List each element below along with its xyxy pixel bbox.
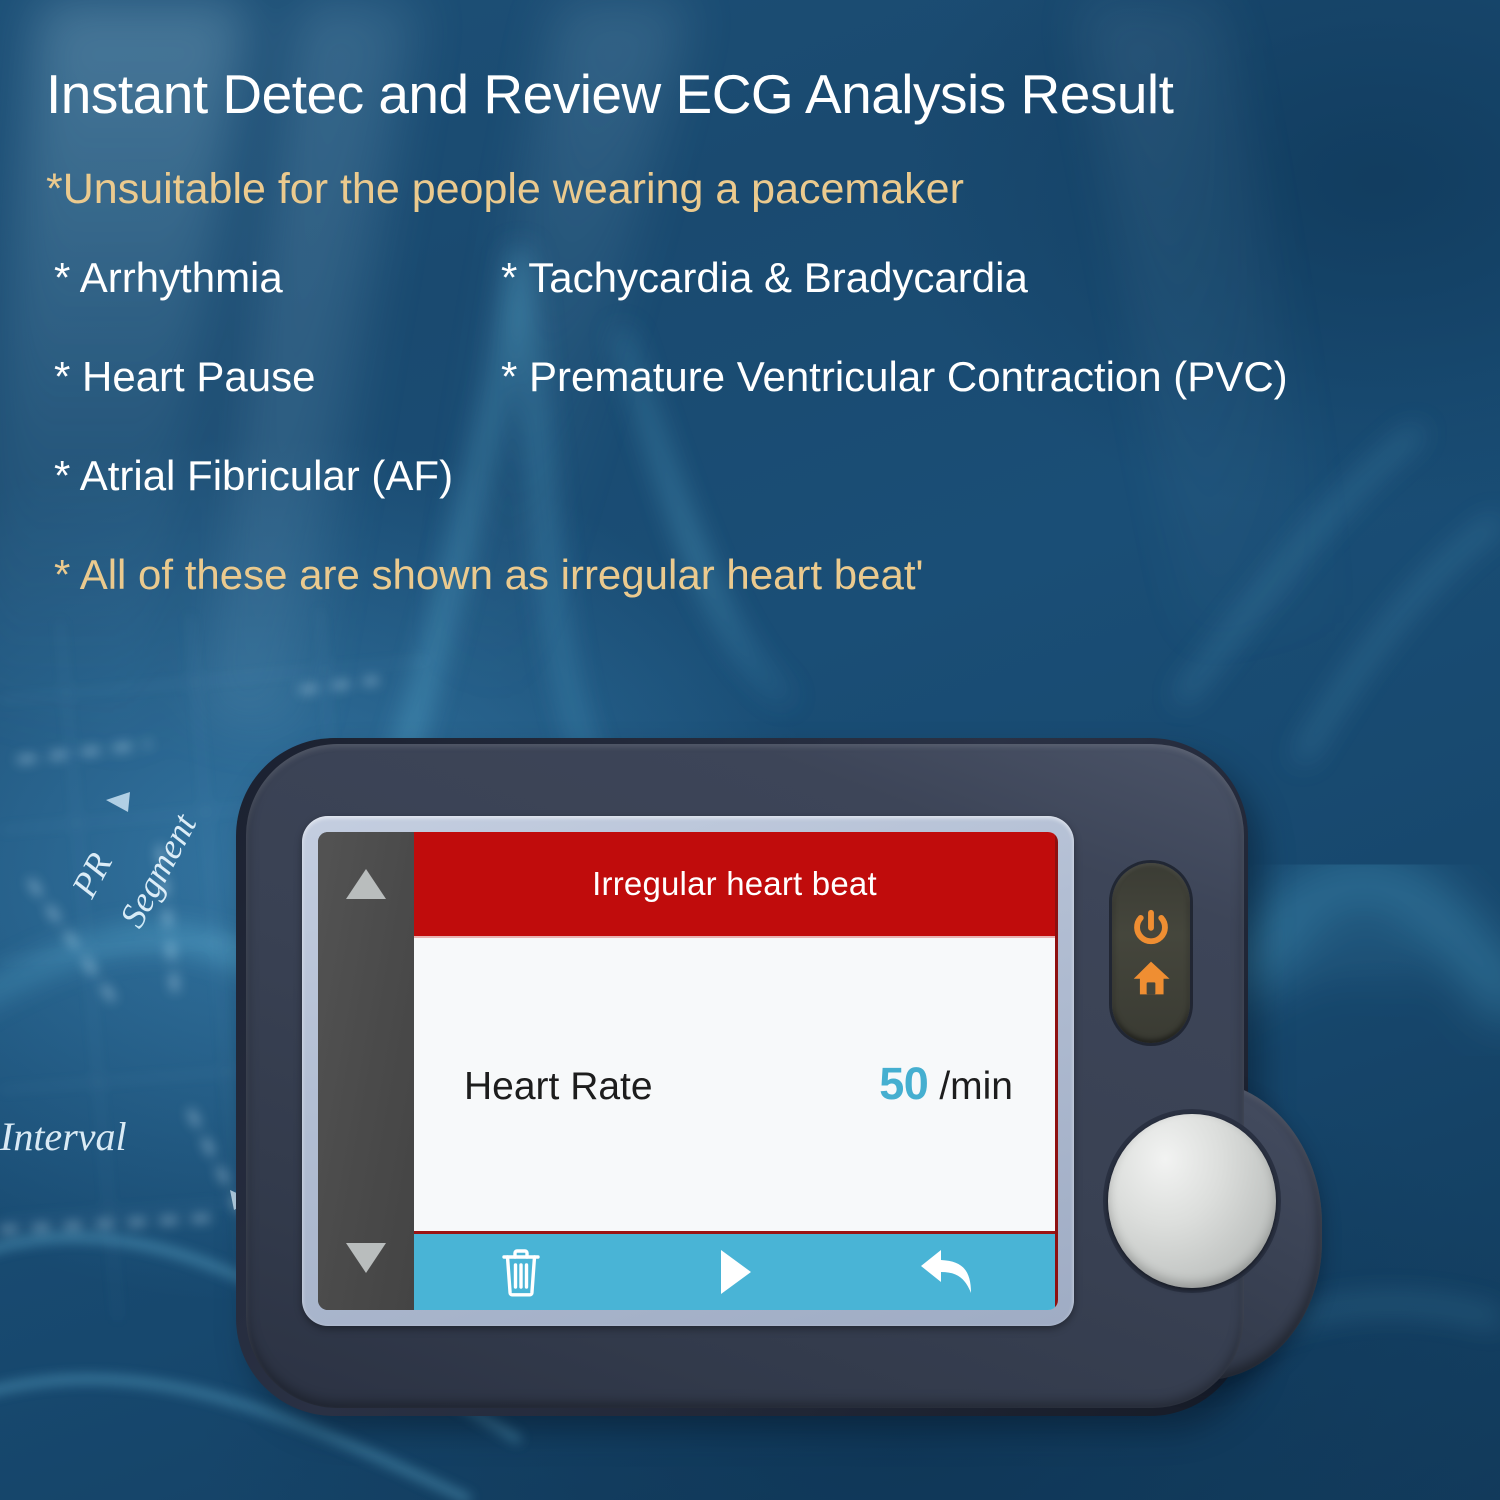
- feature-row: * Heart Pause * Premature Ventricular Co…: [46, 352, 1466, 451]
- poster-root: PR Segment Interval Instant Detec and Re…: [0, 0, 1500, 1500]
- feature-item: * Arrhythmia: [54, 253, 283, 303]
- nav-button-strip: [318, 832, 414, 1310]
- bg-label-segment: Segment: [112, 806, 205, 933]
- heart-rate-unit: /min: [939, 1064, 1013, 1108]
- back-button[interactable]: [841, 1247, 1055, 1297]
- triangle-down-icon[interactable]: [344, 1240, 388, 1276]
- heart-rate-row: Heart Rate 50 /min: [414, 1057, 1055, 1109]
- feature-footnote-row: * All of these are shown as irregular he…: [46, 550, 1466, 649]
- power-home-button[interactable]: [1112, 863, 1190, 1043]
- feature-footnote: * All of these are shown as irregular he…: [54, 550, 924, 600]
- bg-label-pr: PR: [63, 846, 119, 905]
- trash-icon: [498, 1245, 544, 1299]
- bg-label-interval: Interval: [0, 1114, 127, 1159]
- lcd-content: Heart Rate 50 /min: [414, 938, 1055, 1234]
- screen-area: Irregular heart beat Heart Rate 50 /min: [318, 832, 1058, 1310]
- delete-button[interactable]: [414, 1245, 628, 1299]
- feature-item: * Atrial Fibricular (AF): [54, 451, 453, 501]
- triangle-up-icon[interactable]: [344, 866, 388, 902]
- feature-list: * Arrhythmia * Tachycardia & Bradycardia…: [46, 253, 1466, 649]
- page-subtitle: *Unsuitable for the people wearing a pac…: [46, 163, 1466, 215]
- lcd-toolbar: [414, 1234, 1055, 1310]
- feature-item: * Tachycardia & Bradycardia: [501, 253, 1028, 303]
- headline-block: Instant Detec and Review ECG Analysis Re…: [46, 62, 1466, 649]
- feature-item: * Heart Pause: [54, 352, 315, 402]
- feature-row: * Atrial Fibricular (AF): [46, 451, 1466, 550]
- reply-arrow-icon: [919, 1247, 977, 1297]
- feature-row: * Arrhythmia * Tachycardia & Bradycardia: [46, 253, 1466, 352]
- heart-rate-value: 50: [879, 1057, 928, 1109]
- page-title: Instant Detec and Review ECG Analysis Re…: [46, 62, 1466, 126]
- ecg-monitor-device: Irregular heart beat Heart Rate 50 /min: [228, 728, 1298, 1438]
- electrode-pad[interactable]: [1108, 1114, 1276, 1288]
- play-icon: [715, 1247, 755, 1297]
- alert-banner: Irregular heart beat: [414, 832, 1055, 938]
- power-icon: [1129, 908, 1173, 952]
- home-icon: [1129, 958, 1173, 998]
- screen-bezel: Irregular heart beat Heart Rate 50 /min: [302, 816, 1074, 1326]
- lcd-display: Irregular heart beat Heart Rate 50 /min: [414, 832, 1058, 1310]
- feature-item: * Premature Ventricular Contraction (PVC…: [501, 352, 1288, 402]
- heart-rate-label: Heart Rate: [464, 1064, 879, 1108]
- play-button[interactable]: [628, 1247, 842, 1297]
